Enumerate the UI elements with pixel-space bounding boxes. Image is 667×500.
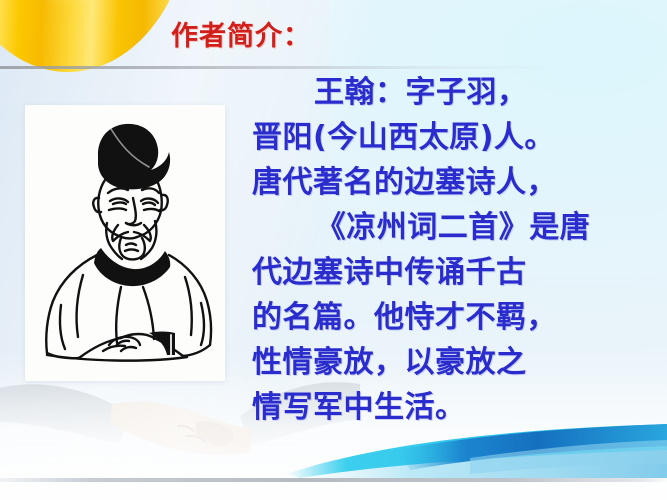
body-line: 王翰：字子羽， xyxy=(252,70,654,115)
body-line: 性情豪放，以豪放之 xyxy=(252,340,654,385)
body-line: 代边塞诗中传诵千古 xyxy=(252,250,654,295)
body-line: 唐代著名的边塞诗人， xyxy=(252,160,654,205)
yellow-fan-highlight xyxy=(0,0,172,72)
scholar-portrait-image xyxy=(25,105,225,381)
body-line: 晋阳(今山西太原)人。 xyxy=(252,115,654,160)
yellow-fan-decoration xyxy=(0,0,172,72)
body-line: 情写军中生活。 xyxy=(252,385,654,430)
author-biography-text: 王翰：字子羽， 晋阳(今山西太原)人。 唐代著名的边塞诗人， 《凉州词二首》是唐… xyxy=(252,70,654,430)
grey-rule-bottom xyxy=(0,478,667,482)
scholar-portrait-icon xyxy=(25,105,225,381)
presentation-slide: 作者简介： 王翰：字子羽， 晋阳(今山西太原)人。 唐代著名的边塞诗人， 《凉州… xyxy=(0,0,667,500)
grey-rule-top xyxy=(0,66,667,69)
body-line: 的名篇。他恃才不羁， xyxy=(252,295,654,340)
page-title: 作者简介： xyxy=(171,14,311,53)
body-line: 《凉州词二首》是唐 xyxy=(252,205,654,250)
